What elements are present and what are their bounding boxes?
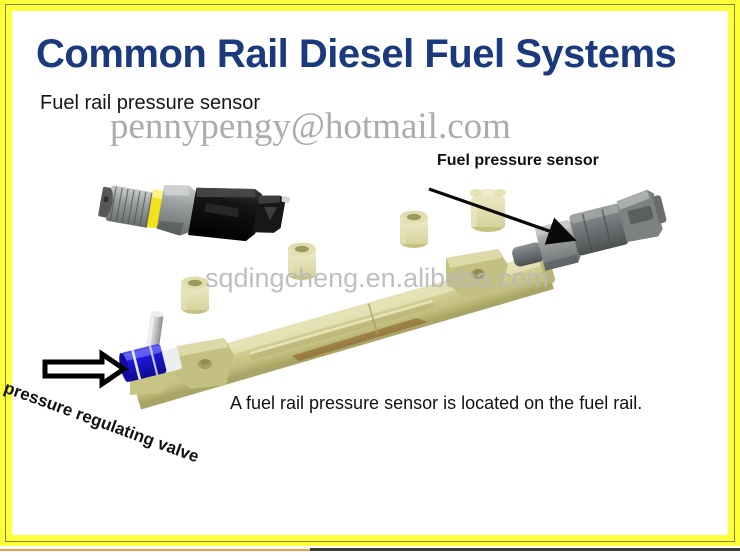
rail-port-3 [400, 211, 428, 249]
watermark-email: pennypengy@hotmail.com [110, 105, 511, 148]
page-title: Common Rail Diesel Fuel Systems [36, 32, 716, 77]
watermark-site: sqdingcheng.en.alibaba.com [205, 263, 549, 294]
product-image-canvas: sqdingcheng.en.alibaba.com Common Rail D… [0, 0, 740, 556]
diagram-caption: A fuel rail pressure sensor is located o… [230, 393, 642, 414]
frame-baseline-dark [310, 548, 740, 551]
label-fuel-pressure-sensor: Fuel pressure sensor [437, 152, 599, 170]
fuel-rail-pressure-sensor-photo [97, 163, 290, 253]
block-arrow [45, 354, 124, 384]
